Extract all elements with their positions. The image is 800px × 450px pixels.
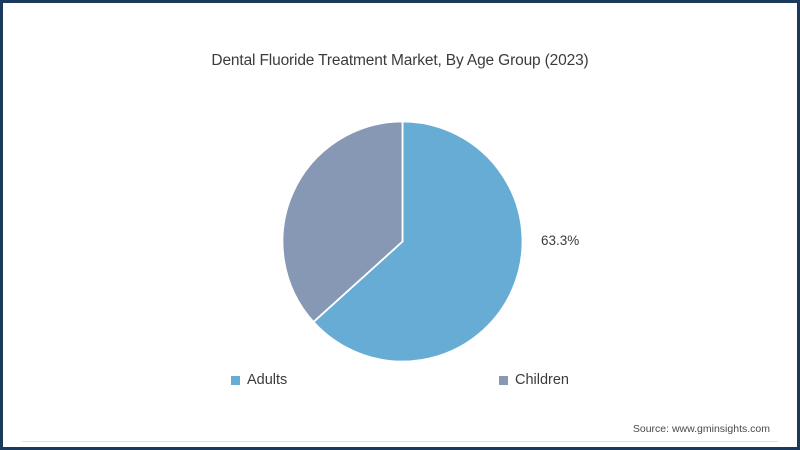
data-label-adults: 63.3% (541, 233, 579, 248)
legend-swatch-icon-children (499, 376, 508, 385)
chart-figure: Dental Fluoride Treatment Market, By Age… (0, 0, 800, 450)
chart-legend: Adults Children (4, 373, 796, 395)
legend-item-children[interactable]: Children (499, 373, 569, 388)
legend-item-adults[interactable]: Adults (231, 373, 287, 388)
page-title: Dental Fluoride Treatment Market, By Age… (4, 52, 796, 70)
pie-chart (282, 121, 523, 362)
legend-swatch-icon-adults (231, 376, 240, 385)
legend-label-adults: Adults (247, 373, 287, 388)
source-note: Source: www.gminsights.com (633, 423, 770, 435)
legend-label-children: Children (515, 373, 569, 388)
source-divider (22, 441, 778, 442)
figure-inner-frame: Dental Fluoride Treatment Market, By Age… (3, 3, 797, 447)
pie-svg (282, 121, 523, 362)
